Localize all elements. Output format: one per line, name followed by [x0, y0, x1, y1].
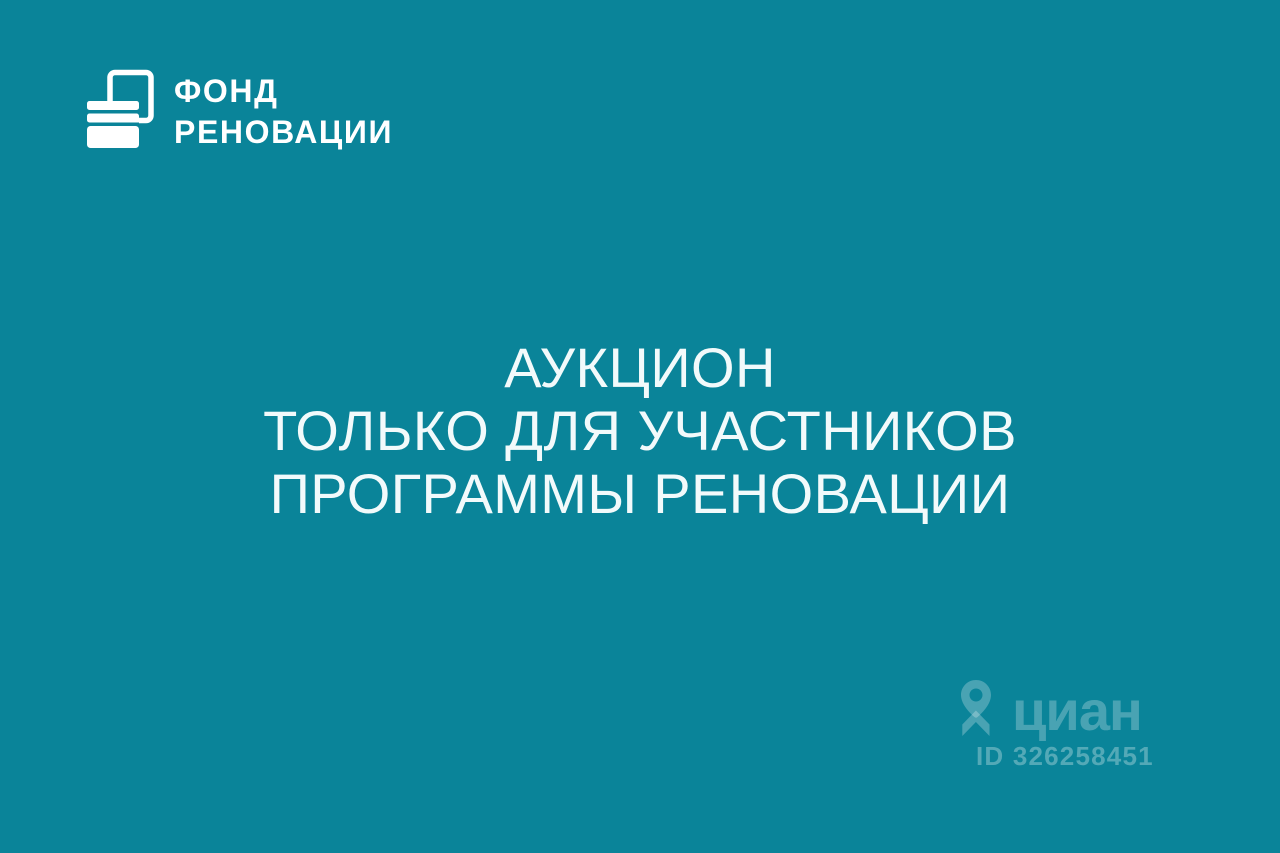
cian-logo-row: циан	[948, 676, 1188, 740]
brand-name-line-1: ФОНД	[174, 74, 393, 108]
headline-block: АУКЦИОН ТОЛЬКО ДЛЯ УЧАСТНИКОВ ПРОГРАММЫ …	[0, 336, 1280, 525]
cian-listing-id: ID 326258451	[976, 742, 1188, 770]
map-pin-icon	[948, 677, 1004, 739]
headline-line-3: ПРОГРАММЫ РЕНОВАЦИИ	[40, 462, 1240, 525]
headline-line-2: ТОЛЬКО ДЛЯ УЧАСТНИКОВ	[40, 399, 1240, 462]
cian-watermark: циан ID 326258451	[948, 676, 1188, 784]
cian-brand-text: циан	[1012, 683, 1142, 739]
brand-name-line-2: РЕНОВАЦИИ	[174, 115, 393, 149]
promo-banner: ФОНД РЕНОВАЦИИ АУКЦИОН ТОЛЬКО ДЛЯ УЧАСТН…	[0, 0, 1280, 853]
stacked-documents-icon	[84, 68, 156, 154]
headline-line-1: АУКЦИОН	[40, 336, 1240, 399]
brand-wordmark: ФОНД РЕНОВАЦИИ	[174, 74, 393, 149]
brand-lockup: ФОНД РЕНОВАЦИИ	[84, 68, 393, 154]
